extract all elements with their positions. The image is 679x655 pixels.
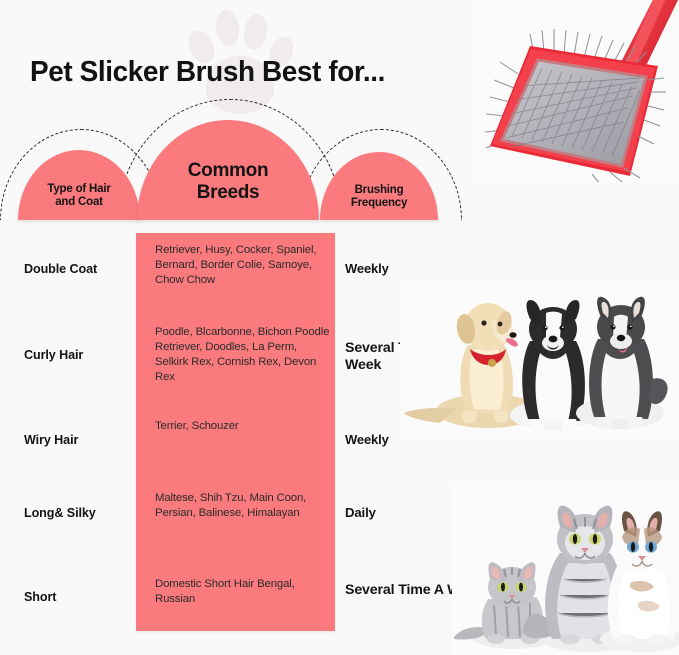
header-label-type-of-hair-and-coat: Type of Hair and Coat [18,183,140,209]
breeds-text: Retriever, Husy, Cocker, Spaniel, Bernar… [155,243,331,288]
hair-type-label: Double Coat [24,262,136,276]
header-label-line2: Breeds [197,182,260,203]
three-cats-photo [452,487,679,655]
category-headers: Type of Hair and Coat Common Breeds Brus… [0,118,470,220]
header-arch-type-of-hair-and-coat: Type of Hair and Coat [18,150,140,220]
hair-type-label: Wiry Hair [24,433,136,447]
header-label-line1: Type of Hair [47,183,110,195]
header-label-common-breeds: Common Breeds [137,160,319,203]
three-dogs-photo [400,283,679,438]
header-arch-common-breeds: Common Breeds [137,120,319,220]
header-label-line2: Frequency [351,197,407,209]
hair-type-label: Short [24,590,136,604]
hair-type-label: Curly Hair [24,348,136,362]
header-label-line1: Common [188,160,269,181]
slicker-brush-photo [472,0,679,182]
header-arch-brushing-frequency: Brushing Frequency [320,152,438,220]
frequency-text: Weekly [345,261,485,277]
header-label-brushing-frequency: Brushing Frequency [320,184,438,210]
breeds-text: Maltese, Shih Tzu, Main Coon, Persian, B… [155,491,331,521]
breeds-text: Domestic Short Hair Bengal, Russian [155,577,331,607]
breeds-text: Terrier, Schouzer [155,419,331,434]
infographic-canvas: Pet Slicker Brush Best for... Type of Ha… [0,0,679,655]
page-title: Pet Slicker Brush Best for... [30,56,385,89]
header-label-line2: and Coat [55,196,103,208]
hair-type-label: Long& Silky [24,506,136,520]
header-label-line1: Brushing [355,184,404,196]
breeds-text: Poodle, Blcarbonne, Bichon Poodle Retrie… [155,325,331,385]
